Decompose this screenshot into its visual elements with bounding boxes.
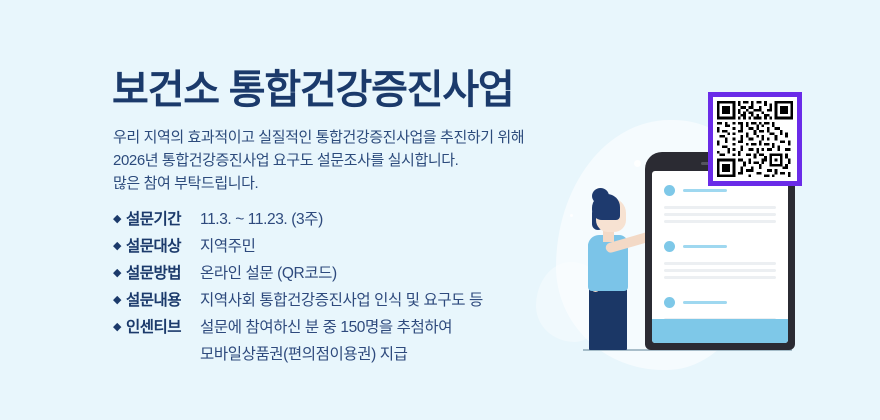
figure-skirt	[589, 283, 627, 350]
phone-bottom-bar	[652, 319, 788, 343]
question-title-line	[683, 189, 727, 192]
illustration	[0, 0, 880, 420]
question-text-line	[664, 206, 776, 209]
question-bullet-icon	[664, 297, 675, 308]
question-bullet-icon	[664, 241, 675, 252]
question-text-line	[664, 269, 776, 272]
phone-screen	[652, 171, 788, 343]
question-text-line	[664, 276, 776, 279]
question-bullet-icon	[664, 185, 675, 196]
figure-hair-bun	[592, 188, 609, 204]
question-text-line	[664, 262, 776, 265]
question-title-line	[683, 301, 727, 304]
question-text-line	[664, 213, 776, 216]
question-title-line	[683, 245, 727, 248]
promo-banner: 보건소 통합건강증진사업 우리 지역의 효과적이고 실질적인 통합건강증진사업을…	[0, 0, 880, 420]
figure-sleeve	[588, 238, 605, 274]
survey-qr-code[interactable]	[708, 92, 802, 186]
qr-code-image	[717, 101, 793, 177]
question-text-line	[664, 220, 776, 223]
